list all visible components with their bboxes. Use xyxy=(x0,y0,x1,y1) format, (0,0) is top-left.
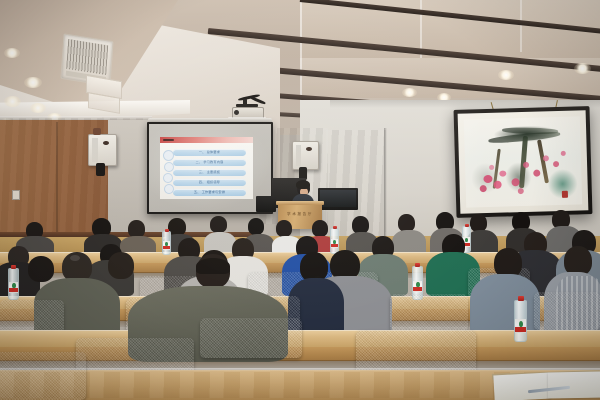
audience-head xyxy=(312,220,328,237)
audience-head xyxy=(276,220,292,237)
wall-speaker-left xyxy=(88,134,117,166)
water-bottle[interactable] xyxy=(330,228,339,254)
downlight xyxy=(30,103,46,113)
water-bottle[interactable] xyxy=(8,268,19,300)
column-shadow xyxy=(384,128,387,240)
water-bottle[interactable] xyxy=(162,231,171,255)
chair-back xyxy=(0,300,64,334)
downlight xyxy=(4,96,21,107)
speaker-bracket xyxy=(96,163,105,176)
downlight xyxy=(574,63,591,74)
water-bottle[interactable] xyxy=(514,300,527,342)
audience-head xyxy=(28,256,54,282)
notebook-right-page[interactable] xyxy=(548,372,600,399)
wall-seam xyxy=(56,122,58,234)
chair-back xyxy=(0,352,86,400)
conference-room-photo: 一、 总体要求 二、 学习教育内容 三、 主要措施 四、 组织领导 五、 工作要… xyxy=(0,0,600,400)
monitor-screen xyxy=(320,190,356,207)
audience-head xyxy=(248,218,264,235)
audience-head xyxy=(108,252,134,279)
projector-lens xyxy=(234,110,239,115)
chair-back xyxy=(390,294,468,332)
podium-top xyxy=(276,201,324,205)
wall-outlet xyxy=(12,190,20,200)
screen-glare xyxy=(149,124,271,212)
podium-label: 学术报告厅 xyxy=(278,212,322,217)
wall-painting xyxy=(454,106,593,218)
hair-highlight xyxy=(70,255,80,261)
downlight xyxy=(4,48,20,58)
presenter-hair xyxy=(296,180,310,189)
downlight xyxy=(498,70,514,80)
foreground-hair xyxy=(196,258,230,274)
chair-back xyxy=(200,318,302,358)
chair-back xyxy=(534,292,600,330)
speaker-mount xyxy=(93,128,101,135)
notebook-left-page[interactable] xyxy=(493,373,550,400)
ceiling-panel xyxy=(300,0,600,58)
equipment-box xyxy=(256,196,276,212)
audience-torso xyxy=(470,274,540,336)
downlight xyxy=(24,77,42,88)
wall-speaker-right xyxy=(292,141,319,170)
projection-screen[interactable]: 一、 总体要求 二、 学习教育内容 三、 主要措施 四、 组织领导 五、 工作要… xyxy=(147,122,273,214)
audience-head xyxy=(210,216,227,233)
ceiling-seam xyxy=(520,0,522,52)
painting-glass-glare xyxy=(458,110,589,214)
downlight xyxy=(402,88,417,97)
